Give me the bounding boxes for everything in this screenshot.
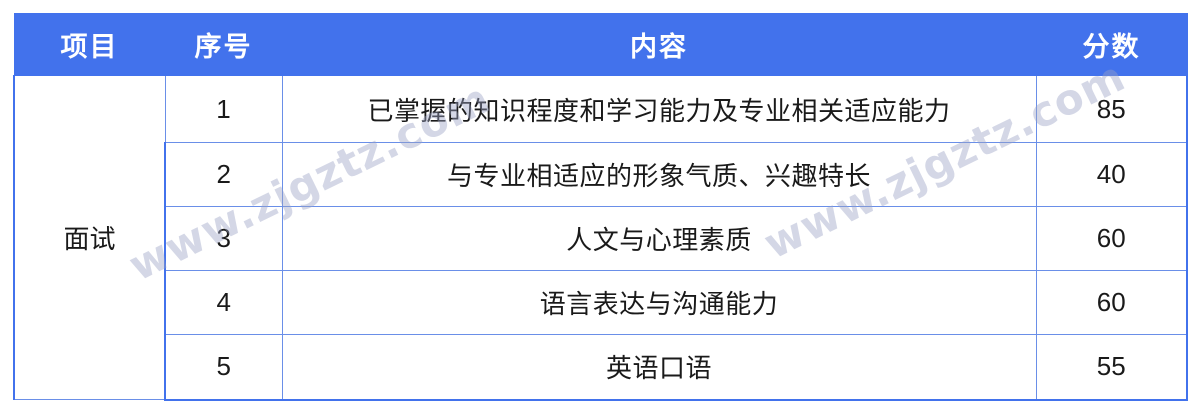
table-row: 面试 1 已掌握的知识程度和学习能力及专业相关适应能力 85 (14, 76, 1187, 143)
table-row: 4 语言表达与沟通能力 60 (14, 271, 1187, 335)
cell-seq: 4 (165, 271, 282, 335)
cell-score: 40 (1036, 143, 1187, 207)
cell-score: 85 (1036, 76, 1187, 143)
grade-table-container: 项目 序号 内容 分数 面试 1 已掌握的知识程度和学习能力及专业相关适应能力 … (13, 13, 1186, 396)
interview-score-table: 项目 序号 内容 分数 面试 1 已掌握的知识程度和学习能力及专业相关适应能力 … (13, 13, 1188, 401)
column-header-score: 分数 (1036, 14, 1187, 76)
cell-score: 60 (1036, 271, 1187, 335)
cell-seq: 3 (165, 207, 282, 271)
cell-seq: 5 (165, 335, 282, 400)
cell-score: 60 (1036, 207, 1187, 271)
cell-content: 与专业相适应的形象气质、兴趣特长 (282, 143, 1036, 207)
table-head: 项目 序号 内容 分数 (14, 14, 1187, 76)
cell-content: 已掌握的知识程度和学习能力及专业相关适应能力 (282, 76, 1036, 143)
cell-content: 人文与心理素质 (282, 207, 1036, 271)
cell-score: 55 (1036, 335, 1187, 400)
cell-content: 语言表达与沟通能力 (282, 271, 1036, 335)
table-body: 面试 1 已掌握的知识程度和学习能力及专业相关适应能力 85 2 与专业相适应的… (14, 76, 1187, 400)
table-row: 5 英语口语 55 (14, 335, 1187, 400)
cell-seq: 1 (165, 76, 282, 143)
cell-seq: 2 (165, 143, 282, 207)
column-header-seq: 序号 (165, 14, 282, 76)
table-row: 2 与专业相适应的形象气质、兴趣特长 40 (14, 143, 1187, 207)
column-header-content: 内容 (282, 14, 1036, 76)
column-header-item: 项目 (14, 14, 165, 76)
table-header-row: 项目 序号 内容 分数 (14, 14, 1187, 76)
cell-group-item: 面试 (14, 76, 165, 400)
table-sheet: 项目 序号 内容 分数 面试 1 已掌握的知识程度和学习能力及专业相关适应能力 … (0, 0, 1200, 410)
cell-content: 英语口语 (282, 335, 1036, 400)
table-row: 3 人文与心理素质 60 (14, 207, 1187, 271)
